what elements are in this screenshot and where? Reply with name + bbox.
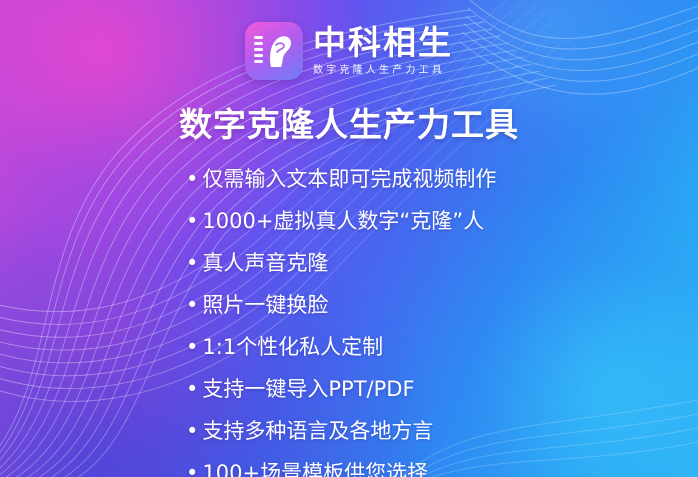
bullet-dot-icon: • xyxy=(186,295,198,316)
list-item-label: 照片一键换脸 xyxy=(202,289,328,319)
list-item: • 1:1个性化私人定制 xyxy=(186,331,674,373)
list-item: • 支持一键导入PPT/PDF xyxy=(186,373,674,415)
logo-subtitle: 数字克隆人生产力工具 xyxy=(313,66,445,76)
bullet-dot-icon: • xyxy=(186,421,198,442)
logo-head-icon xyxy=(267,33,293,69)
list-item-label: 真人声音克隆 xyxy=(202,247,328,277)
logo-text: 中科相生 数字克隆人生产力工具 xyxy=(313,26,453,76)
app-logo-icon xyxy=(245,22,303,80)
logo-bars-icon xyxy=(254,36,263,63)
bullet-dot-icon: • xyxy=(186,337,198,358)
list-item-label: 仅需输入文本即可完成视频制作 xyxy=(202,163,496,193)
bullet-dot-icon: • xyxy=(186,211,198,232)
logo-title: 中科相生 xyxy=(313,26,453,59)
list-item-label: 1:1个性化私人定制 xyxy=(202,331,383,361)
page-title: 数字克隆人生产力工具 xyxy=(0,98,698,146)
bullet-dot-icon: • xyxy=(186,253,198,274)
bullet-dot-icon: • xyxy=(186,169,198,190)
list-item-label: 1000+虚拟真人数字“克隆”人 xyxy=(202,205,484,235)
list-item-label: 支持多种语言及各地方言 xyxy=(202,415,433,445)
list-item: • 支持多种语言及各地方言 xyxy=(186,415,674,457)
list-item: • 照片一键换脸 xyxy=(186,289,674,331)
bullet-dot-icon: • xyxy=(186,463,198,477)
list-item: • 真人声音克隆 xyxy=(186,247,674,289)
list-item: • 仅需输入文本即可完成视频制作 xyxy=(186,163,674,205)
promo-poster: 中科相生 数字克隆人生产力工具 数字克隆人生产力工具 • 仅需输入文本即可完成视… xyxy=(0,0,698,477)
list-item-label: 100+场景模板供您选择 xyxy=(202,457,428,477)
bullet-dot-icon: • xyxy=(186,379,198,400)
list-item: • 1000+虚拟真人数字“克隆”人 xyxy=(186,205,674,247)
list-item: • 100+场景模板供您选择 xyxy=(186,457,674,477)
list-item-label: 支持一键导入PPT/PDF xyxy=(202,373,414,403)
logo: 中科相生 数字克隆人生产力工具 xyxy=(0,22,698,80)
feature-list: • 仅需输入文本即可完成视频制作 • 1000+虚拟真人数字“克隆”人 • 真人… xyxy=(186,163,674,477)
